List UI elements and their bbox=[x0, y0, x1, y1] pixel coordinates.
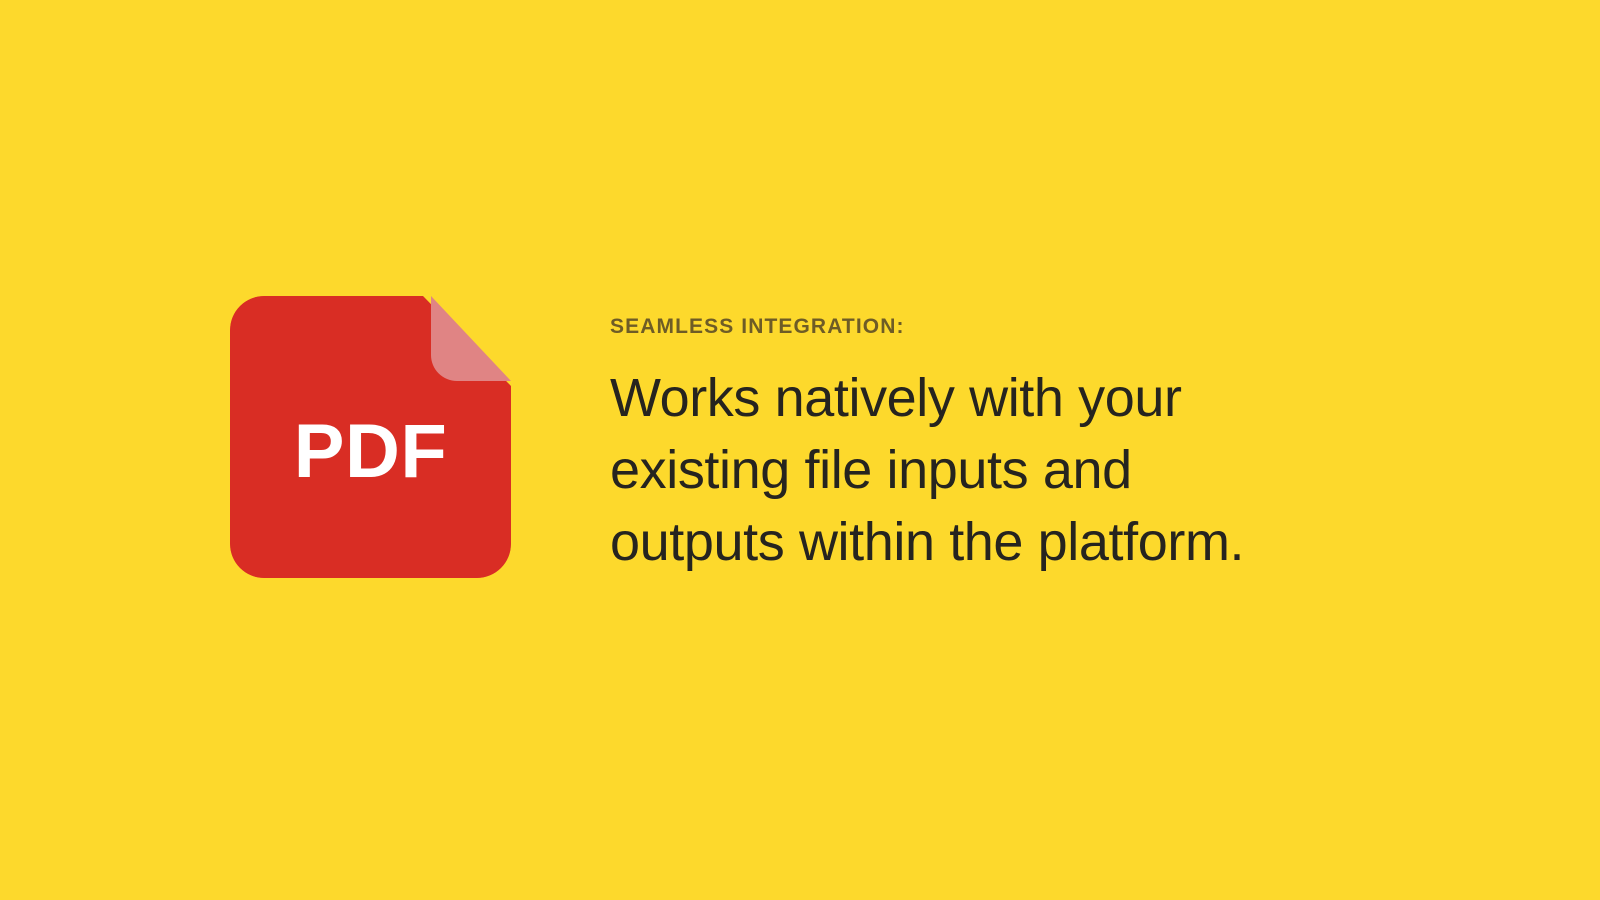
pdf-file-icon: PDF bbox=[230, 296, 511, 578]
slide-canvas: PDF SEAMLESS INTEGRATION: Works natively… bbox=[0, 0, 1600, 900]
headline-line-1: Works natively with your bbox=[610, 363, 1370, 435]
text-block: SEAMLESS INTEGRATION: Works natively wit… bbox=[610, 296, 1370, 578]
headline-line-2: existing file inputs and bbox=[610, 435, 1370, 507]
headline-line-3: outputs within the platform. bbox=[610, 507, 1370, 579]
page-title: Works natively with your existing file i… bbox=[610, 363, 1370, 578]
eyebrow-label: SEAMLESS INTEGRATION: bbox=[610, 316, 1370, 337]
pdf-label: PDF bbox=[230, 414, 511, 490]
feature-callout: PDF SEAMLESS INTEGRATION: Works natively… bbox=[230, 296, 1370, 578]
